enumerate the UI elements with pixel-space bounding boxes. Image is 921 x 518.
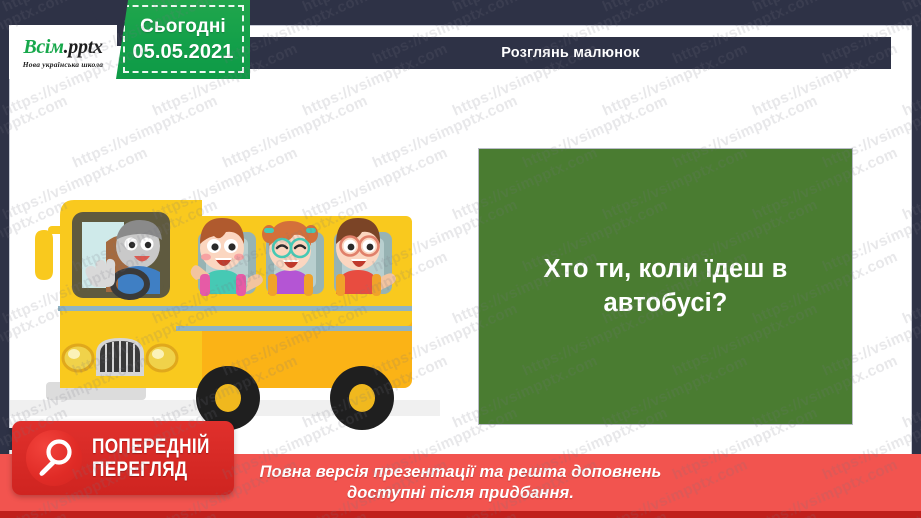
school-bus-illustration xyxy=(10,186,440,442)
preview-badge-line2: ПЕРЕГЛЯД xyxy=(92,459,210,480)
question-text: Хто ти, коли їдеш в автобусі? xyxy=(501,253,830,321)
preview-badge-text: ПОПЕРЕДНІЙ ПЕРЕГЛЯД xyxy=(92,436,236,480)
today-label: Сьогодні xyxy=(140,16,226,38)
watermark-text: https://vsimpptx.com xyxy=(450,0,600,16)
watermark-text: https://vsimpptx.com xyxy=(600,0,750,16)
purchase-notice-underline xyxy=(0,511,921,518)
brand-logo: Всім.pptx Нова українська школа xyxy=(9,25,117,79)
today-date-value: 05.05.2021 xyxy=(132,41,233,64)
preview-badge-line1: ПОПЕРЕДНІЙ xyxy=(92,436,210,457)
brand-logo-rest: сім xyxy=(36,36,63,58)
magnifier-icon xyxy=(26,430,82,486)
brand-logo-subtitle: Нова українська школа xyxy=(23,60,104,69)
page-title: Розглянь малюнок xyxy=(501,45,640,61)
brand-logo-ext: .pptx xyxy=(64,36,103,58)
watermark-text: https://vsimpptx.com xyxy=(300,0,450,16)
question-box: Хто ти, коли їдеш в автобусі? xyxy=(478,148,853,425)
brand-logo-initial: В xyxy=(23,36,36,58)
slide-header-bar: Розглянь малюнок xyxy=(250,37,891,69)
watermark-text: https://vsimpptx.com xyxy=(900,0,921,16)
purchase-notice-line1: Повна версія презентації та решта доповн… xyxy=(260,462,662,482)
preview-badge[interactable]: ПОПЕРЕДНІЙ ПЕРЕГЛЯД xyxy=(12,421,234,495)
slide-stage: Хто ти, коли їдеш в автобусі? Розглянь м… xyxy=(0,0,921,518)
today-date-badge: Сьогодні 05.05.2021 xyxy=(116,0,250,79)
watermark-text: https://vsimpptx.com xyxy=(750,0,900,16)
purchase-notice-line2: доступні після придбання. xyxy=(347,483,574,503)
brand-logo-title: Всім.pptx xyxy=(23,36,102,59)
